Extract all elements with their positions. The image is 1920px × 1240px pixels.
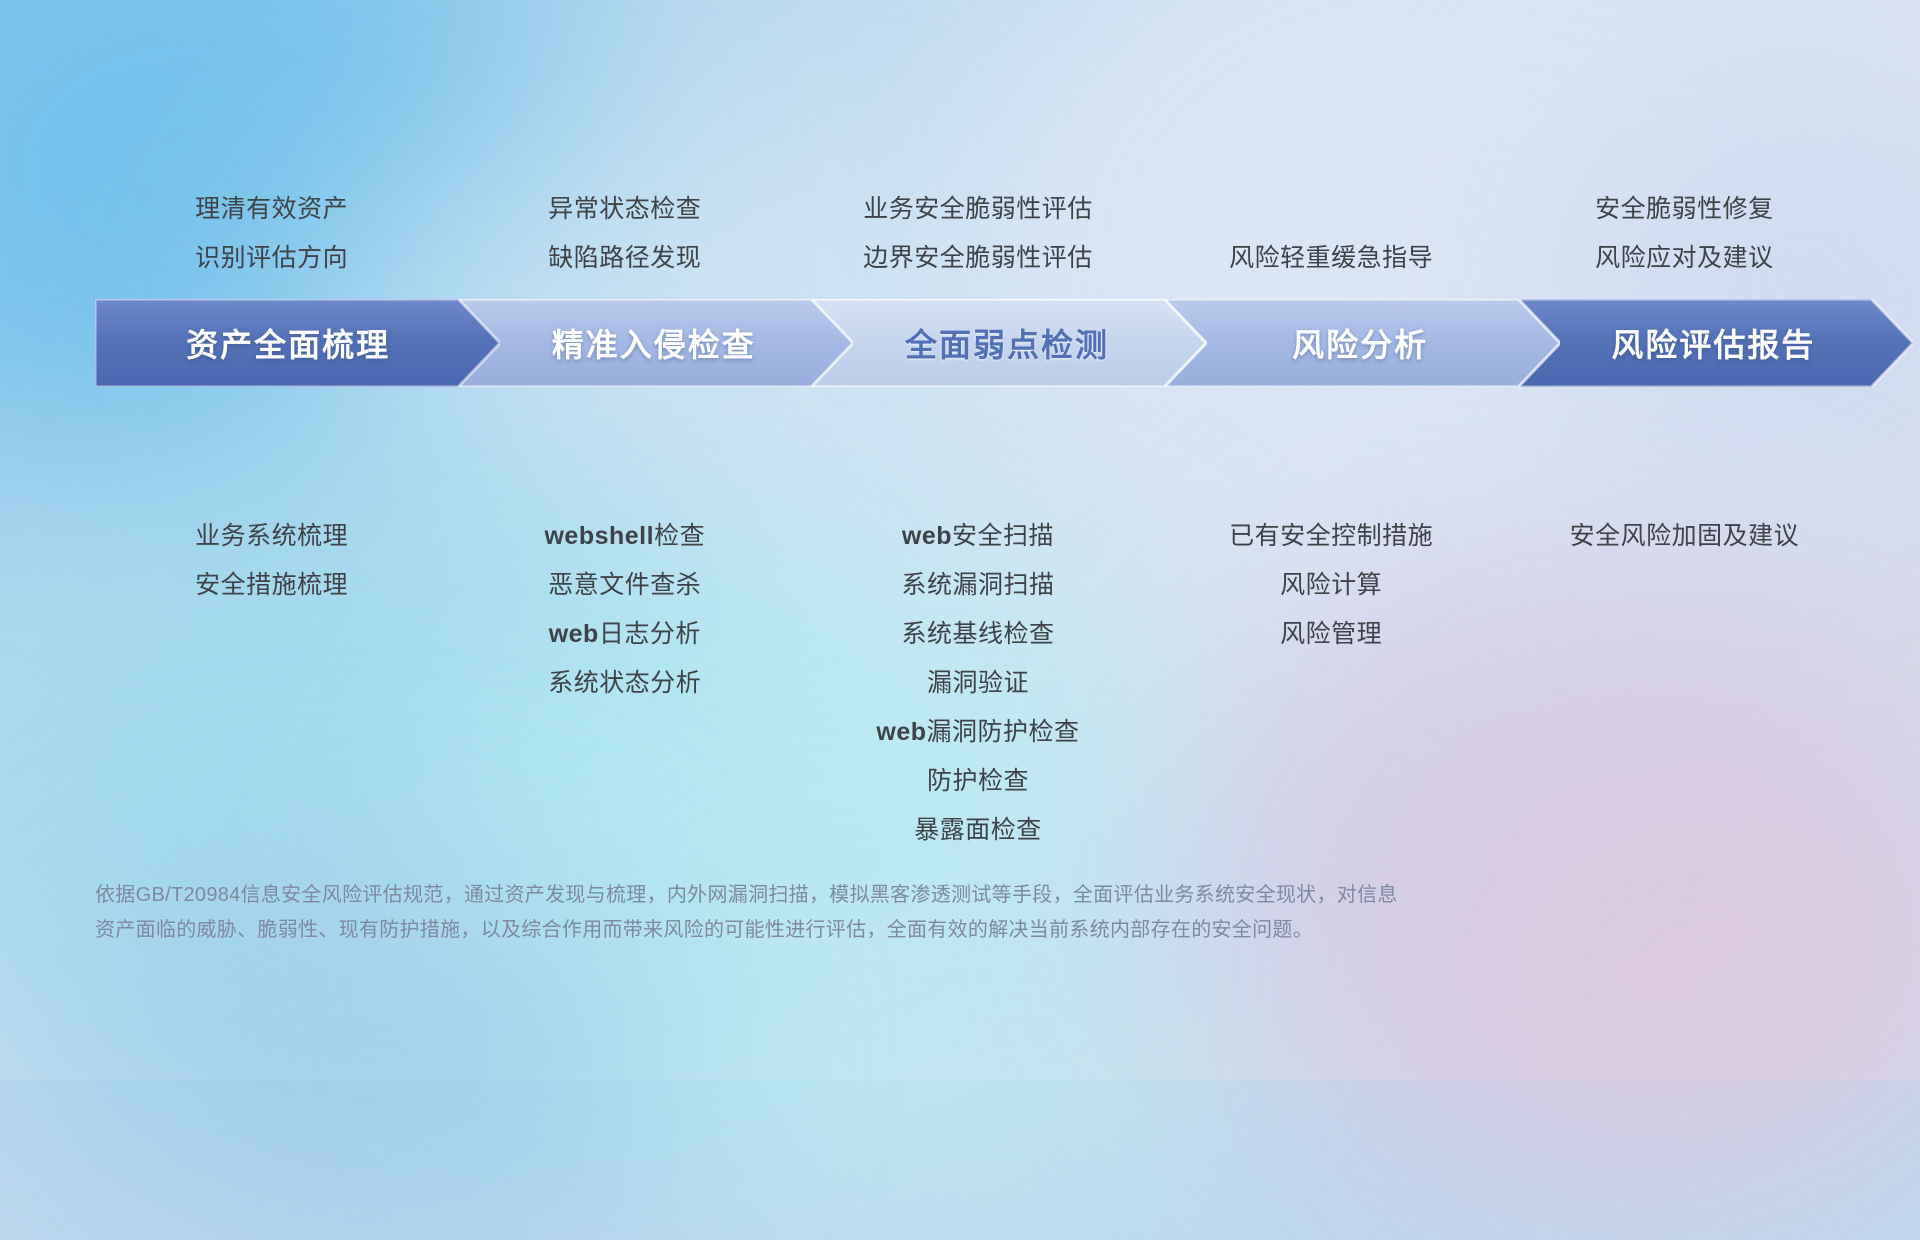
top-annotation-line: 风险轻重缓急指导 [1155, 234, 1508, 283]
footer-line-2: 资产面临的威胁、脆弱性、现有防护措施，以及综合作用而带来风险的可能性进行评估，全… [95, 913, 1585, 948]
chevron-risk-report[interactable]: 风险评估报告 [1508, 299, 1913, 387]
detail-item-keyword: web [549, 620, 599, 648]
top-annotation-asset-inventory: 理清有效资产识别评估方向 [95, 185, 448, 283]
process-diagram: 理清有效资产识别评估方向异常状态检查缺陷路径发现业务安全脆弱性评估边界安全脆弱性… [0, 0, 1920, 1080]
detail-item: 风险管理 [1155, 610, 1508, 659]
chevron-weakness-detection[interactable]: 全面弱点检测 [801, 299, 1206, 387]
detail-item: 系统状态分析 [448, 659, 801, 708]
top-annotation-risk-analysis: 风险轻重缓急指导 [1155, 185, 1508, 283]
top-annotation-intrusion-check: 异常状态检查缺陷路径发现 [448, 185, 801, 283]
detail-item-text: 日志分析 [599, 620, 701, 648]
detail-item-keyword: webshell [544, 522, 654, 550]
detail-item: 恶意文件查杀 [448, 561, 801, 610]
detail-list-risk-report: 安全风险加固及建议 [1508, 512, 1861, 855]
detail-item: web漏洞防护检查 [801, 708, 1154, 757]
chevron-intrusion-check[interactable]: 精准入侵检查 [448, 299, 853, 387]
chevron-label: 风险评估报告 [1611, 320, 1815, 366]
chevron-asset-inventory[interactable]: 资产全面梳理 [95, 299, 500, 387]
top-annotation-line: 风险应对及建议 [1508, 234, 1861, 283]
detail-item: 系统基线检查 [801, 610, 1154, 659]
chevron-risk-analysis[interactable]: 风险分析 [1155, 299, 1560, 387]
chevron-label: 精准入侵检查 [552, 320, 756, 366]
top-annotation-line: 安全脆弱性修复 [1508, 185, 1861, 234]
process-chevron-band: 资产全面梳理精准入侵检查全面弱点检测风险分析风险评估报告 [95, 299, 1861, 387]
top-annotation-line: 缺陷路径发现 [448, 234, 801, 283]
detail-item-text: 漏洞防护检查 [927, 718, 1080, 746]
detail-item-text: 安全扫描 [952, 522, 1054, 550]
detail-item: web日志分析 [448, 610, 801, 659]
chevron-label: 全面弱点检测 [905, 320, 1109, 366]
chevron-label: 风险分析 [1292, 320, 1428, 366]
detail-item-keyword: web [902, 522, 952, 550]
detail-item: 暴露面检查 [801, 806, 1154, 855]
top-annotation-risk-report: 安全脆弱性修复风险应对及建议 [1508, 185, 1861, 283]
detail-item: 已有安全控制措施 [1155, 512, 1508, 561]
detail-item: 漏洞验证 [801, 659, 1154, 708]
top-annotations-row: 理清有效资产识别评估方向异常状态检查缺陷路径发现业务安全脆弱性评估边界安全脆弱性… [95, 185, 1885, 283]
detail-list-asset-inventory: 业务系统梳理安全措施梳理 [95, 512, 448, 855]
detail-item: 业务系统梳理 [95, 512, 448, 561]
detail-item: 安全风险加固及建议 [1508, 512, 1861, 561]
top-annotation-line: 识别评估方向 [95, 234, 448, 283]
detail-item-text: 检查 [654, 522, 705, 550]
detail-list-weakness-detection: web安全扫描系统漏洞扫描系统基线检查漏洞验证web漏洞防护检查防护检查暴露面检… [801, 512, 1154, 855]
bottom-details-row: 业务系统梳理安全措施梳理webshell检查恶意文件查杀web日志分析系统状态分… [95, 512, 1885, 855]
detail-list-risk-analysis: 已有安全控制措施风险计算风险管理 [1155, 512, 1508, 855]
detail-item: web安全扫描 [801, 512, 1154, 561]
detail-item: 系统漏洞扫描 [801, 561, 1154, 610]
top-annotation-weakness-detection: 业务安全脆弱性评估边界安全脆弱性评估 [801, 185, 1154, 283]
top-annotation-line: 理清有效资产 [95, 185, 448, 234]
footer-line-1: 依据GB/T20984信息安全风险评估规范，通过资产发现与梳理，内外网漏洞扫描，… [95, 878, 1585, 913]
detail-list-intrusion-check: webshell检查恶意文件查杀web日志分析系统状态分析 [448, 512, 801, 855]
top-annotation-line: 边界安全脆弱性评估 [801, 234, 1154, 283]
detail-item: 安全措施梳理 [95, 561, 448, 610]
detail-item: webshell检查 [448, 512, 801, 561]
detail-item: 防护检查 [801, 757, 1154, 806]
top-annotation-line: 业务安全脆弱性评估 [801, 185, 1154, 234]
footer-description: 依据GB/T20984信息安全风险评估规范，通过资产发现与梳理，内外网漏洞扫描，… [95, 878, 1585, 948]
detail-item-keyword: web [876, 718, 926, 746]
detail-item: 风险计算 [1155, 561, 1508, 610]
top-annotation-line: 异常状态检查 [448, 185, 801, 234]
chevron-label: 资产全面梳理 [186, 320, 390, 366]
